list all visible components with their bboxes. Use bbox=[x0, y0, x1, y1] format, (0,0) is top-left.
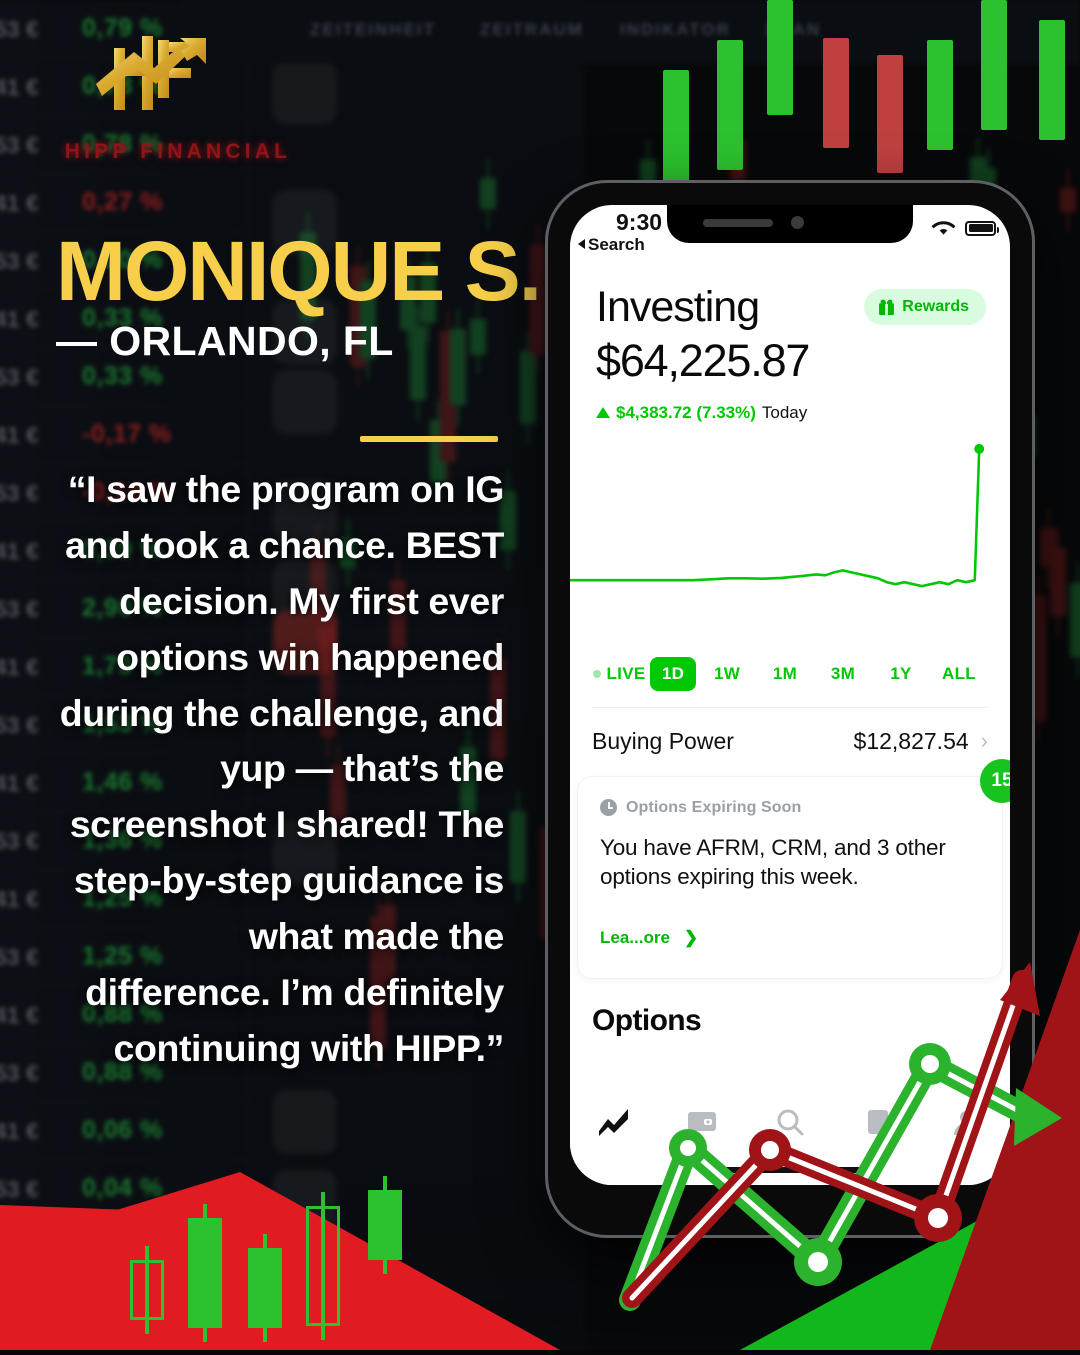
hero-candle bbox=[1039, 20, 1065, 140]
portfolio-chart-svg bbox=[570, 437, 1010, 647]
foreground-candle bbox=[130, 1260, 164, 1320]
hero-candle bbox=[767, 0, 793, 115]
portfolio-chart[interactable] bbox=[570, 437, 1010, 647]
brand-logo: HIPP FINANCIAL bbox=[58, 22, 298, 172]
front-camera-icon bbox=[791, 216, 804, 229]
tab-account[interactable] bbox=[922, 1107, 1010, 1137]
phone-screen: 9:30 Search Investing $64,225.87 $4,383.… bbox=[570, 205, 1010, 1185]
timeframe-label: 1M bbox=[773, 664, 797, 683]
chart-line-icon bbox=[597, 1107, 631, 1137]
buying-power-label: Buying Power bbox=[592, 728, 734, 755]
card-eyebrow: Options Expiring Soon bbox=[626, 799, 801, 817]
foreground-candle bbox=[368, 1190, 402, 1260]
back-arrow-icon bbox=[578, 239, 585, 249]
card-body: You have AFRM, CRM, and 3 other options … bbox=[600, 833, 980, 892]
hero-candle bbox=[823, 38, 849, 148]
timeframe-label: LIVE bbox=[607, 664, 646, 684]
earpiece-speaker-icon bbox=[703, 219, 773, 227]
foreground-candlesticks bbox=[120, 1190, 500, 1350]
home-indicator bbox=[716, 1167, 864, 1173]
clock-icon bbox=[600, 799, 617, 816]
timeframe-1y[interactable]: 1Y bbox=[874, 657, 928, 691]
document-icon bbox=[864, 1107, 892, 1137]
person-icon bbox=[951, 1107, 981, 1137]
chevron-right-icon: ❯ bbox=[684, 928, 698, 948]
testimonial-quote: “I saw the program on IG and took a chan… bbox=[56, 462, 504, 1077]
chevron-right-icon: › bbox=[981, 728, 988, 754]
status-time: 9:30 bbox=[616, 209, 662, 236]
foreground-candle bbox=[248, 1248, 282, 1328]
timeframe-label: 1D bbox=[662, 664, 684, 683]
foreground-candle bbox=[188, 1218, 222, 1328]
tab-investing[interactable] bbox=[570, 1107, 658, 1137]
rewards-button[interactable]: Rewards bbox=[864, 289, 986, 325]
daily-change: $4,383.72 (7.33%) Today bbox=[596, 403, 984, 423]
timeframe-label: 1Y bbox=[890, 664, 911, 683]
hero-candle bbox=[877, 55, 903, 173]
phone-mockup: 9:30 Search Investing $64,225.87 $4,383.… bbox=[545, 180, 1035, 1238]
bg-toolbar-label-0: ZEITEINHEIT bbox=[310, 20, 436, 40]
bg-quote-row: 41 €-0,17 % bbox=[0, 406, 250, 464]
timeframe-label: 3M bbox=[831, 664, 855, 683]
buying-power-row[interactable]: Buying Power $12,827.54 › bbox=[570, 708, 1010, 777]
wallet-icon bbox=[686, 1107, 718, 1135]
buying-power-value: $12,827.54 bbox=[854, 728, 969, 755]
gift-icon bbox=[878, 299, 895, 316]
learn-more-link[interactable]: Lea...ore ❯ bbox=[600, 928, 980, 948]
wifi-icon bbox=[931, 219, 956, 237]
change-up-arrow-icon bbox=[596, 407, 610, 418]
bg-toolbar-label-1: ZEITRAUM bbox=[480, 20, 584, 40]
testimonial-name: MONIQUE S. bbox=[56, 232, 540, 311]
rewards-label: Rewards bbox=[902, 298, 969, 316]
hero-candle bbox=[981, 0, 1007, 130]
options-section-title: Options bbox=[570, 978, 1010, 1038]
gold-divider bbox=[360, 436, 498, 442]
timeframe-3m[interactable]: 3M bbox=[816, 657, 870, 691]
battery-icon bbox=[965, 221, 996, 236]
timeframe-1w[interactable]: 1W bbox=[700, 657, 754, 691]
hero-candle bbox=[663, 70, 689, 190]
tab-search[interactable] bbox=[746, 1107, 834, 1137]
phone-notch bbox=[667, 205, 913, 243]
hero-candle bbox=[927, 40, 953, 150]
portfolio-balance: $64,225.87 bbox=[596, 335, 984, 387]
tab-documents[interactable] bbox=[834, 1107, 922, 1137]
status-indicators bbox=[931, 219, 996, 237]
bg-quote-row: 41 €0,06 % bbox=[0, 1102, 250, 1160]
change-period: Today bbox=[762, 403, 807, 423]
foreground-candle bbox=[306, 1206, 340, 1326]
timeframe-label: ALL bbox=[942, 664, 976, 683]
timeframe-1d[interactable]: 1D bbox=[650, 657, 696, 691]
timeframe-live[interactable]: LIVE bbox=[592, 657, 646, 691]
tab-wallet[interactable] bbox=[658, 1107, 746, 1135]
options-expiring-card[interactable]: 15 Options Expiring Soon You have AFRM, … bbox=[578, 777, 1002, 978]
testimonial-location: — ORLANDO, FL bbox=[56, 318, 394, 365]
change-amount: $4,383.72 (7.33%) bbox=[616, 403, 756, 423]
search-icon bbox=[775, 1107, 805, 1137]
timeframe-1m[interactable]: 1M bbox=[758, 657, 812, 691]
investing-header: Investing $64,225.87 $4,383.72 (7.33%) T… bbox=[570, 249, 1010, 423]
timeframe-selector[interactable]: LIVE1D1W1M3M1YALL bbox=[570, 647, 1010, 691]
live-dot-icon bbox=[593, 670, 601, 678]
brand-wordmark: HIPP FINANCIAL bbox=[58, 140, 298, 164]
hero-candle bbox=[717, 40, 743, 170]
hipp-monogram-arrow-icon bbox=[84, 22, 244, 127]
timeframe-all[interactable]: ALL bbox=[932, 657, 986, 691]
timeframe-label: 1W bbox=[714, 664, 740, 683]
hero-candlesticks bbox=[655, 0, 1075, 160]
learn-more-label: Lea...ore bbox=[600, 928, 670, 948]
